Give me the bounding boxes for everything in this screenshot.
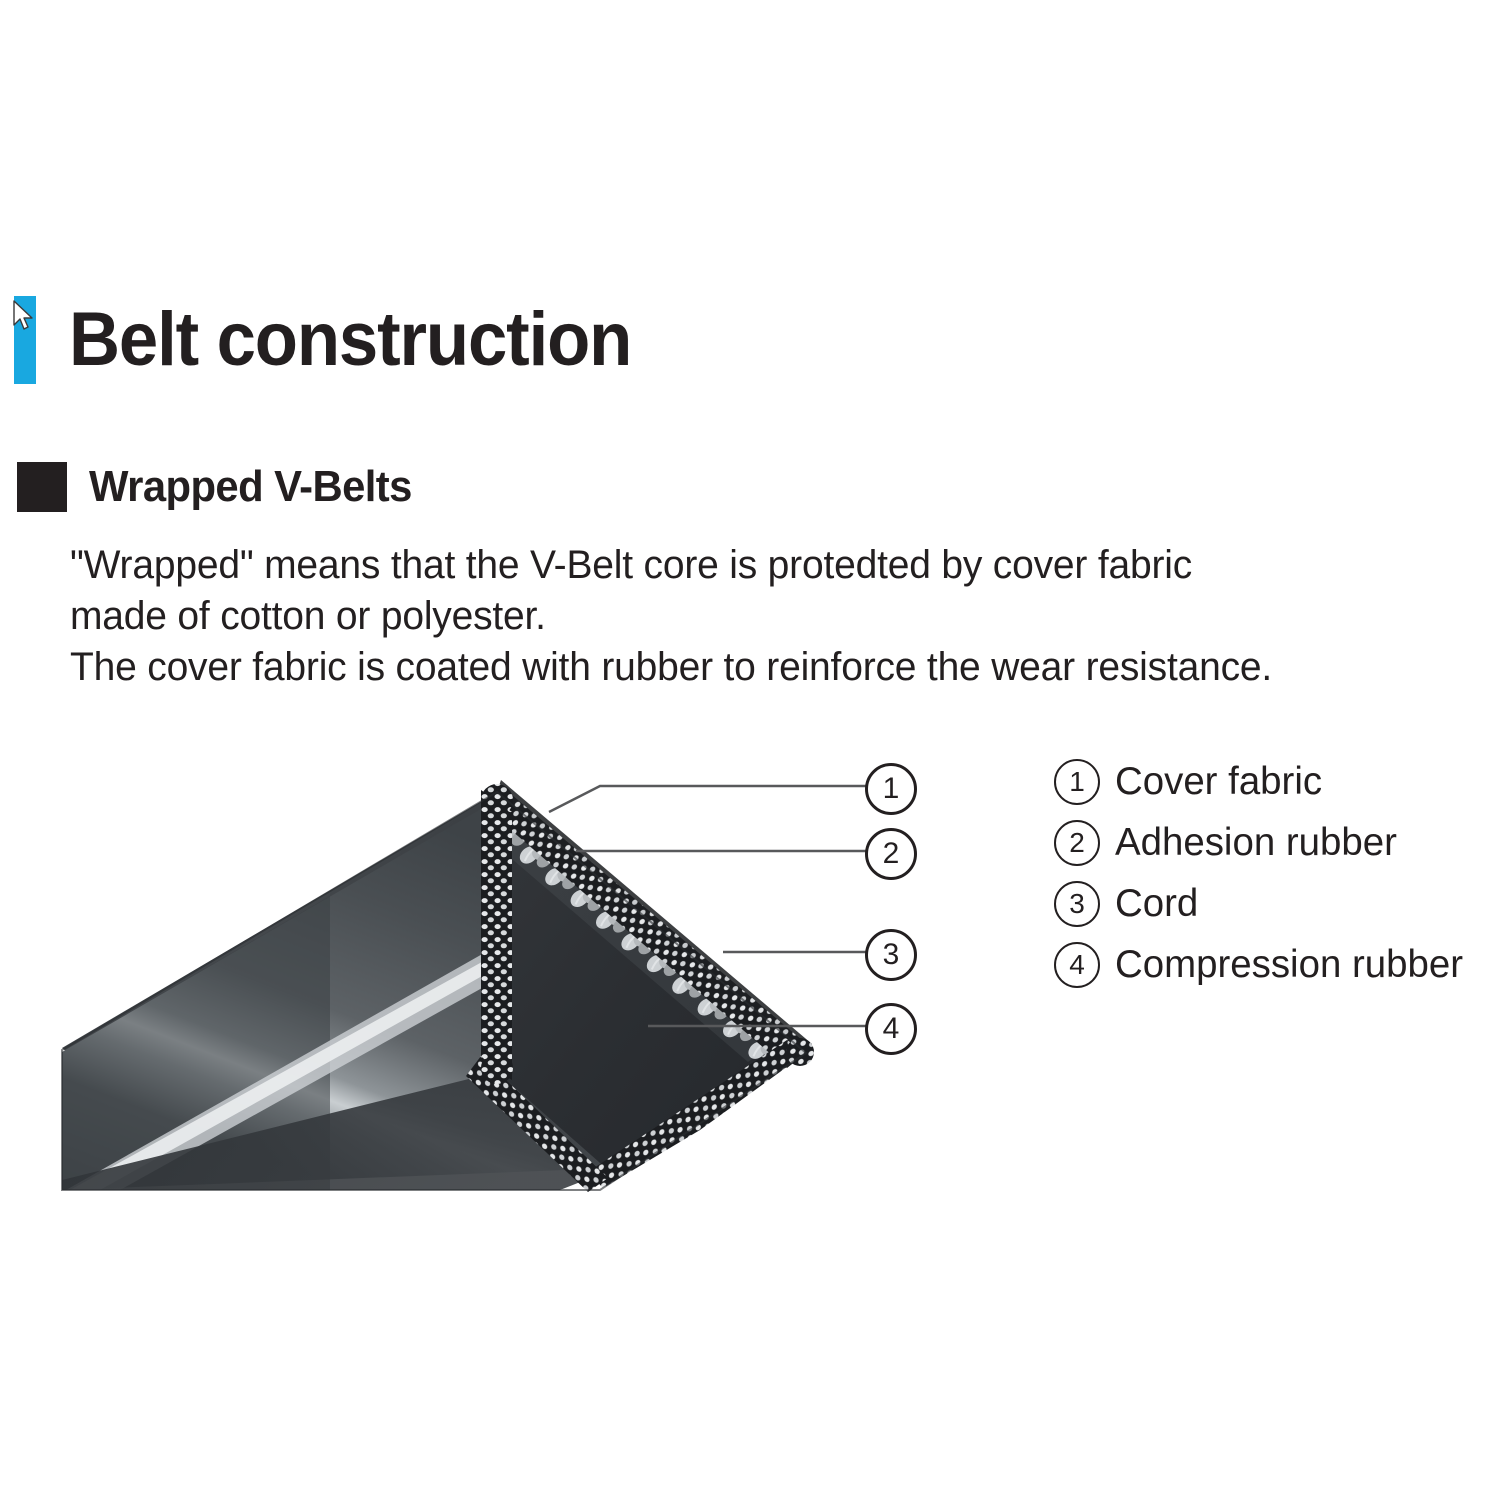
figure-legend: 1 Cover fabric 2 Adhesion rubber 3 Cord … [1054, 752, 1468, 996]
legend-number-2: 2 [1054, 820, 1100, 866]
title-accent-bar [14, 296, 36, 384]
section-heading-row: Wrapped V-Belts [0, 462, 429, 512]
callout-marker-3: 3 [865, 929, 917, 981]
section-paragraph: "Wrapped" means that the V-Belt core is … [70, 540, 1435, 693]
section-bullet-square [17, 462, 67, 512]
legend-label-3: Cord [1115, 882, 1198, 926]
legend-label-4: Compression rubber [1115, 943, 1463, 987]
section-heading: Wrapped V-Belts [89, 462, 412, 512]
paragraph-line-2: made of cotton or polyester. [70, 591, 1435, 642]
belt-construction-figure [0, 0, 1500, 1500]
legend-label-1: Cover fabric [1115, 760, 1322, 804]
callout-marker-2: 2 [865, 828, 917, 880]
legend-item-3: 3 Cord [1054, 874, 1468, 934]
leader-line-1 [549, 786, 866, 812]
legend-number-3: 3 [1054, 881, 1100, 927]
legend-item-2: 2 Adhesion rubber [1054, 813, 1468, 873]
legend-number-1: 1 [1054, 759, 1100, 805]
legend-number-4: 4 [1054, 942, 1100, 988]
page-root: 1 2 3 4 Belt construction Wrapped V-Belt… [0, 0, 1500, 1500]
paragraph-line-3: The cover fabric is coated with rubber t… [70, 642, 1435, 693]
page-title-row: Belt construction [0, 296, 674, 384]
legend-label-2: Adhesion rubber [1115, 821, 1397, 865]
paragraph-line-1: "Wrapped" means that the V-Belt core is … [70, 540, 1435, 591]
callout-marker-1: 1 [865, 763, 917, 815]
legend-item-4: 4 Compression rubber [1054, 935, 1468, 995]
page-title: Belt construction [69, 298, 631, 382]
callout-marker-4: 4 [865, 1003, 917, 1055]
legend-item-1: 1 Cover fabric [1054, 752, 1468, 812]
